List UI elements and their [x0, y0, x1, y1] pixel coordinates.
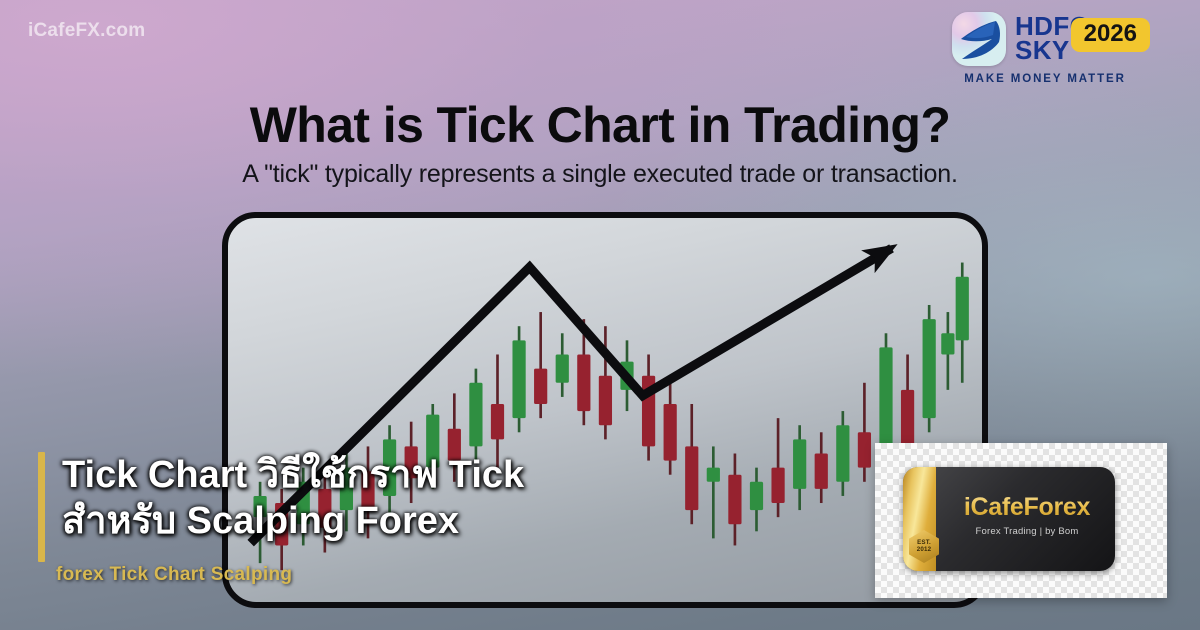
- hdfc-sky-swoosh-icon: [952, 12, 1006, 66]
- overlay-title-line-2: สำหรับ Scalping Forex: [62, 498, 702, 544]
- hdfc-sky-logo: HDFC SKY MAKE MONEY MATTER 2026: [952, 10, 1138, 88]
- brand-tagline: MAKE MONEY MATTER: [952, 73, 1138, 85]
- candlestick-chart-frame: [222, 212, 988, 608]
- page-subtitle: A "tick" typically represents a single e…: [0, 160, 1200, 189]
- overlay-tagline: forex Tick Chart Scalping: [56, 564, 292, 586]
- logo-plate: iCafeForex Forex Trading | by Bom EST. 2…: [903, 467, 1115, 571]
- gold-accent-bar: [38, 452, 45, 562]
- banner-stage: iCafeFX.com HDFC SKY MAKE MONEY MATTER 2…: [0, 0, 1200, 630]
- overlay-title-line-1: Tick Chart วิธีใช้กราฟ Tick: [62, 454, 524, 496]
- icafeforex-logo-card: iCafeForex Forex Trading | by Bom EST. 2…: [875, 443, 1167, 598]
- year-badge: 2026: [1071, 18, 1150, 52]
- logo-name: iCafeForex: [947, 493, 1107, 522]
- overlay-title: Tick Chart วิธีใช้กราฟ Tick สำหรับ Scalp…: [62, 452, 702, 545]
- page-title: What is Tick Chart in Trading?: [0, 96, 1200, 154]
- logo-text-block: iCafeForex Forex Trading | by Bom: [947, 493, 1107, 537]
- site-watermark: iCafeFX.com: [28, 20, 145, 42]
- est-badge-line-2: 2012: [917, 547, 932, 554]
- logo-subtitle: Forex Trading | by Bom: [947, 526, 1107, 537]
